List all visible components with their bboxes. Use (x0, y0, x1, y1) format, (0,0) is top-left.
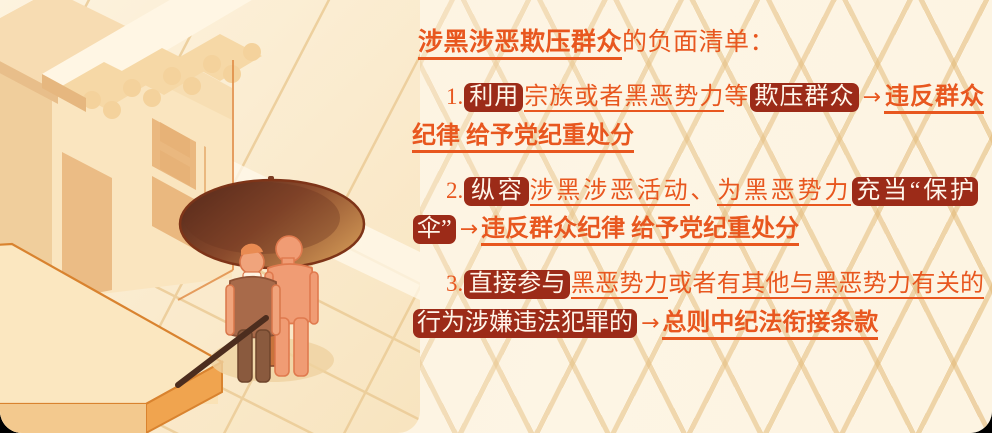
list-items-container: 1.利用宗族或者黑恶势力等欺压群众→违反群众纪律 给予党纪重处分2.纵容涉黑涉恶… (412, 78, 984, 343)
underlined-text: 为黑恶势力 (717, 178, 851, 206)
emphasis-box: 欺压群众 (750, 83, 858, 112)
underlined-text: 宗族或者黑恶势力 (524, 84, 724, 112)
list-item: 3.直接参与黑恶势力或者有其他与黑恶势力有关的行为涉嫌违法犯罪的→总则中纪法衔接… (412, 265, 984, 343)
plain-text: 、 (690, 178, 717, 204)
underlined-text: 黑恶势力 (571, 271, 668, 299)
arrow-icon: → (860, 85, 884, 110)
underlined-text: 有其他与黑恶势力有关的 (717, 271, 984, 299)
conclusion-text: 总则中纪法衔接条款 (662, 310, 878, 340)
emphasis-box: 直接参与 (464, 270, 570, 299)
arrow-icon: → (457, 217, 481, 242)
underlined-text: 涉黑涉恶活动 (530, 178, 691, 206)
emphasis-box: 纵容 (464, 177, 528, 206)
page-title: 涉黑涉恶欺压群众的负面清单： (418, 26, 984, 60)
list-item: 1.利用宗族或者黑恶势力等欺压群众→违反群众纪律 给予党纪重处分 (412, 78, 984, 156)
title-rest: 的负面清单： (622, 29, 775, 56)
list-item-number: 3. (446, 271, 463, 296)
arrow-icon: → (638, 311, 662, 336)
title-highlight: 涉黑涉恶欺压群众 (418, 29, 622, 60)
negative-list-text: 涉黑涉恶欺压群众的负面清单： 1.利用宗族或者黑恶势力等欺压群众→违反群众纪律 … (408, 0, 992, 433)
plain-text: 或者 (668, 271, 717, 297)
conclusion-text: 违反群众纪律 给予党纪重处分 (481, 216, 799, 246)
illustration-isometric-street-scene (0, 0, 420, 433)
list-item-number: 1. (446, 84, 463, 109)
list-item-number: 2. (446, 178, 463, 203)
list-item: 2.纵容涉黑涉恶活动、为黑恶势力充当“保护伞”→违反群众纪律 给予党纪重处分 (412, 172, 984, 250)
emphasis-box: 利用 (464, 83, 523, 112)
poster: 涉黑涉恶欺压群众的负面清单： 1.利用宗族或者黑恶势力等欺压群众→违反群众纪律 … (0, 0, 992, 433)
emphasis-box: 行为涉嫌违法犯罪的 (413, 309, 637, 338)
plain-text: 等 (724, 84, 749, 110)
